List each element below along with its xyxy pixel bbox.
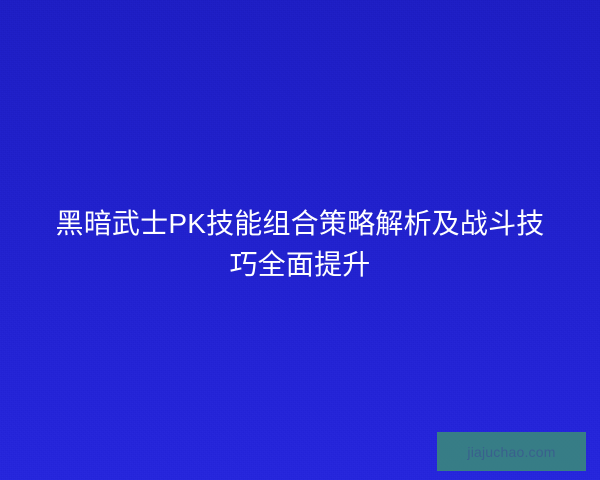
title-line-1: 黑暗武士PK技能组合策略解析及战斗技 [34, 203, 566, 244]
watermark-label: jiajuchao.com [467, 444, 555, 460]
poster-canvas: 黑暗武士PK技能组合策略解析及战斗技 巧全面提升 jiajuchao.com [0, 0, 600, 480]
watermark-badge: jiajuchao.com [437, 432, 586, 471]
title-line-2: 巧全面提升 [34, 244, 566, 285]
page-title: 黑暗武士PK技能组合策略解析及战斗技 巧全面提升 [0, 203, 600, 285]
